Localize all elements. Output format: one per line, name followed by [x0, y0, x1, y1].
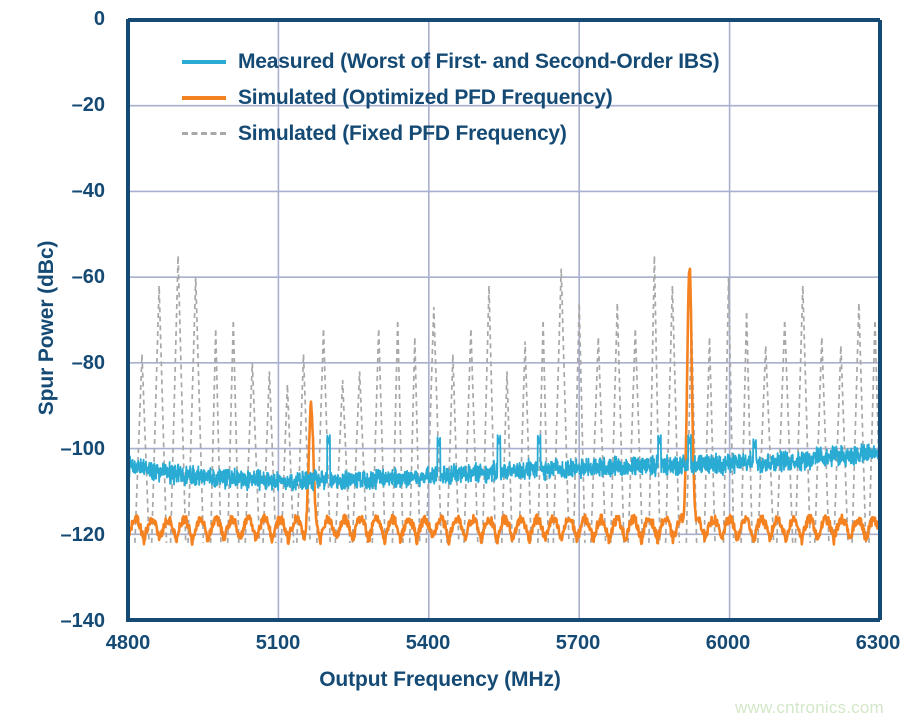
legend-item: Measured (Worst of First- and Second-Ord…: [182, 48, 719, 76]
legend-swatch-measured-icon: [182, 55, 226, 69]
legend-item: Simulated (Optimized PFD Frequency): [182, 84, 719, 112]
spur-power-chart: 0 –20 –40 –60 –80 –100 –120 –140 4800 51…: [0, 0, 922, 728]
chart-legend: Measured (Worst of First- and Second-Ord…: [182, 48, 719, 148]
watermark: www.cntronics.com: [735, 698, 884, 718]
legend-item: Simulated (Fixed PFD Frequency): [182, 120, 719, 148]
legend-label: Simulated (Optimized PFD Frequency): [238, 86, 613, 110]
legend-swatch-optimized-icon: [182, 91, 226, 105]
legend-label: Simulated (Fixed PFD Frequency): [238, 122, 567, 146]
legend-swatch-fixed-icon: [182, 127, 226, 141]
legend-label: Measured (Worst of First- and Second-Ord…: [238, 50, 719, 74]
